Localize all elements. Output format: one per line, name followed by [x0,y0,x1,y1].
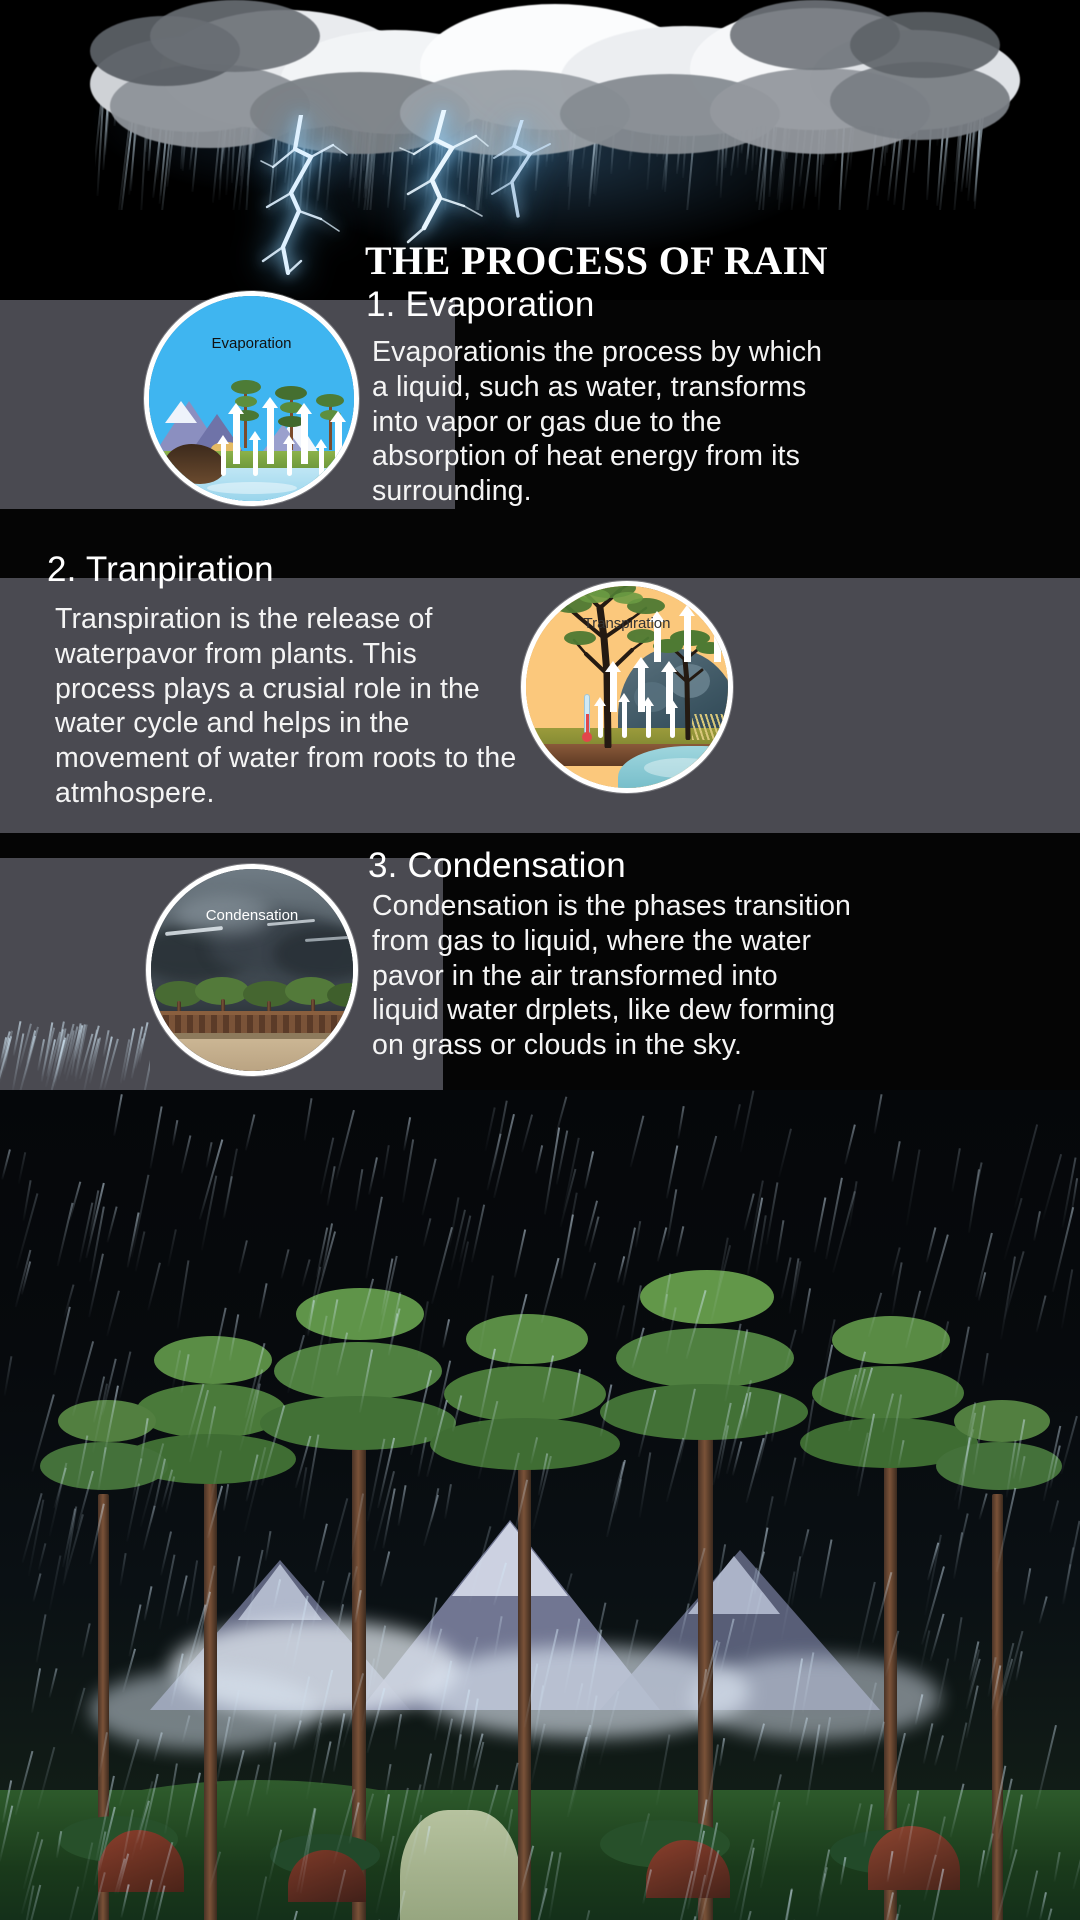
rain-drop [139,1418,148,1465]
rain-drop [280,1249,289,1278]
rain-drop [314,1524,328,1573]
rain-drop [383,1145,391,1179]
rain-drop [451,1734,463,1794]
rain-drop [1038,1596,1047,1624]
rain-drop [153,1733,163,1762]
vapor-wiggle-icon [670,706,675,738]
rain-drop [171,1120,178,1146]
evaporation-circle-label: Evaporation [149,335,354,352]
rain-drop [852,1804,861,1834]
rain-drop [571,1370,581,1417]
rain-drop [801,1652,814,1712]
rain-drop [839,1857,846,1885]
vapor-wiggle-icon [646,704,651,738]
rain-drop [171,1350,181,1392]
rain-drop [441,1319,449,1348]
rain-drop [903,1790,919,1873]
railing [151,1011,353,1015]
rain-drop [280,1911,298,1920]
rain-drop [1053,1852,1060,1882]
rain-drop [884,1733,906,1819]
rain-drop [542,1355,554,1402]
rain-drop [430,1628,443,1667]
rain-drop [514,1229,526,1277]
rain-drop [789,1658,803,1732]
rain-drop [368,1157,378,1195]
rain-drop [326,1166,335,1206]
step-3-heading: 3. Condensation [368,847,928,886]
rain-drop [502,1453,520,1522]
rain-drop [302,1259,311,1286]
rain-drop [996,1488,1017,1573]
rain-drop [1035,1295,1046,1332]
rain-drop [954,1326,970,1397]
rain-drop [939,1321,949,1360]
rain-drop [764,1496,773,1532]
rain-drop [954,1723,967,1773]
rain-drop [209,1308,226,1378]
rain-drop [575,1683,584,1713]
rain-drop [339,1573,350,1610]
rain-drop [313,1670,333,1750]
rain-drop [493,1616,502,1658]
step-3-body: Condensation is the phases transition fr… [372,889,852,1063]
rain-drop [404,1815,423,1885]
vapor-arrow-icon [233,412,240,464]
rain-drop [535,1145,543,1174]
rain-drop [82,1623,91,1657]
rain-drop [1,1149,11,1180]
rain-drop [224,1749,245,1827]
rain-drop [291,1596,308,1672]
rain-drop [512,1480,528,1542]
rain-drop [632,1327,645,1368]
rain-drop [31,1394,55,1472]
rain-drop [487,1133,502,1189]
rain-drop [675,1226,684,1257]
rain-drop [321,1741,332,1784]
rain-drop [177,1260,190,1329]
rain-drop [462,1637,479,1694]
rain-drop [167,1229,177,1266]
rain-drop [925,1227,936,1262]
rain-drop [937,1659,949,1709]
vapor-wiggle-icon [349,448,354,476]
rain-drop [223,1484,229,1511]
condensation-circle[interactable]: Condensation [146,864,358,1076]
rain-drop [421,1158,436,1215]
vapor-arrow-icon [335,420,342,466]
condensation-diagram-icon [151,869,353,1071]
rain-drop [740,1091,755,1153]
rain-drop [182,1715,191,1742]
rain-drop [382,1488,396,1548]
rain-drop [332,1870,346,1920]
rain-drop [897,1441,904,1467]
rain-drop [724,1323,741,1401]
rain-drop [299,1809,316,1894]
rain-drop [259,1284,268,1320]
rain-drop [4,1356,13,1396]
rain-drop [1035,1725,1057,1809]
rain-drop [712,1402,732,1484]
rain-drop [325,1498,348,1574]
rain-drop [519,1845,533,1893]
rain-drop [813,1197,826,1252]
rain-drop [238,1240,248,1273]
rain-drop [625,1620,638,1669]
rain-drop [106,1291,120,1337]
vapor-wiggle-icon [319,446,324,476]
rain-drop [1039,1892,1047,1920]
rain-drop [924,1855,938,1902]
transpiration-circle-label: Transpiration [526,615,728,632]
rain-drop [181,1354,190,1393]
rain-drop [563,1574,572,1601]
rain-drop [15,1751,34,1815]
step-2-heading: 2. Tranpiration [47,551,567,590]
rain-drop [304,1098,313,1141]
rain-drop [982,1353,989,1386]
rain-drop [867,1293,881,1338]
rain-drop [874,1094,883,1134]
rain-drop [856,1582,876,1660]
path-edge [151,1033,353,1039]
rain-drop [951,1149,961,1193]
step-1-body: Evaporationis the process by which a liq… [372,335,827,509]
rain-drop [738,1330,749,1376]
rain-drop [733,1105,741,1132]
rain-drop [403,1117,411,1151]
rain-drop [582,1910,590,1920]
rain-drop [201,1566,216,1627]
rain-drop [366,1688,385,1753]
rain-drop [934,1735,944,1765]
rain-drop [642,1870,652,1905]
rain-drop [371,1625,385,1685]
rain-drop [559,1168,576,1227]
rain-drop [208,1450,222,1510]
rain-drop [147,1262,161,1310]
rain-drop [965,1686,978,1740]
rain-drop [207,1485,223,1537]
rain-drop [306,1723,323,1800]
rain-drop [246,1765,260,1817]
rain-drop [48,1555,61,1611]
rain-drop [478,1275,494,1355]
rain-drop [1003,1198,1022,1260]
rain-drop [423,1218,432,1246]
rain-drop [18,1152,26,1184]
rain-drop [71,1688,86,1735]
rain-drop [592,1603,607,1663]
path-ground [151,1035,353,1071]
rain-drop [420,1754,432,1803]
rain-drop [120,1553,127,1586]
rain-drop [375,1836,394,1913]
rain-drop [0,1805,13,1861]
rain-streaks-icon [0,1090,1080,1920]
rain-drop [32,1573,41,1601]
rain-drop [599,1691,620,1765]
vapor-arrow-icon [301,412,308,464]
rain-drop [36,1615,47,1664]
rain-drop [796,1717,808,1761]
rain-drop [362,1794,374,1831]
rain-drop [118,1351,131,1398]
rain-drop [390,1788,410,1872]
rain-drop [53,1307,71,1376]
rain-drop [231,1556,240,1593]
rain-drop [97,1447,106,1491]
rain-drop [273,1579,281,1607]
rain-drop [336,1332,348,1375]
rain-streaks-icon [0,1020,150,1092]
rain-drop [90,1503,106,1564]
rain-drop [106,1206,117,1243]
rain-drop [720,1619,735,1674]
rain-drop [354,1590,362,1623]
rain-drop [228,1690,240,1739]
rain-drop [76,1436,89,1491]
rain-drop [120,1809,134,1870]
rain-drop [953,1617,962,1662]
rain-drop [716,1544,726,1590]
rain-drop [185,1773,201,1838]
rain-drop [361,1658,375,1731]
rain-drop [923,1723,934,1764]
rain-drop [304,1266,321,1335]
rain-drop [686,1548,705,1610]
step-1-heading: 1. Evaporation [366,286,986,325]
rain-drop [1023,1568,1031,1605]
rain-drop [905,1290,921,1348]
lightning-bolt-icon [255,115,365,275]
rain-drop [687,1830,705,1908]
rain-drop [711,1237,729,1320]
page-title: THE PROCESS OF RAIN [365,240,1025,282]
condensation-circle-label: Condensation [151,907,353,924]
rain-drop [311,1580,324,1627]
rain-drop [864,1805,874,1847]
rain-drop [719,1738,725,1766]
rain-drop [780,1257,791,1299]
rain-drop [778,1128,792,1177]
rain-drop [30,1668,40,1713]
rain-drop [770,1394,781,1442]
rain-drop [484,1108,495,1153]
rain-drop [350,1493,364,1559]
rain-drop [88,1253,104,1317]
evaporation-circle[interactable]: Evaporation [144,291,359,506]
rain-drop [789,1258,800,1314]
rain-drop [452,1395,463,1432]
vapor-wiggle-icon [253,438,258,476]
rain-drop [806,1725,821,1806]
rain-drop [417,1301,429,1359]
rain-drop [143,1586,152,1620]
rain-drop [882,1393,894,1432]
rain-drop [638,1390,656,1457]
rain-drop [562,1137,580,1213]
rain-drop [165,1477,175,1514]
tree-canopy [327,983,353,1007]
rain-drop [507,1294,528,1370]
rain-drop [1060,1269,1072,1328]
rain-drop [884,1893,894,1920]
rain-drop [335,1110,355,1181]
rain-drop [584,1151,594,1189]
rain-drop [843,1375,857,1423]
rain-drop [177,1576,188,1617]
rain-drop [424,1826,431,1855]
rain-drop [268,1830,282,1883]
rain-drop [677,1106,684,1139]
cloud-puff [850,12,1000,78]
rain-drop [892,1141,901,1182]
rain-drop [1042,1426,1061,1501]
rain-drop [139,1880,153,1920]
rain-drop [635,1221,641,1248]
rain-drop [638,1452,651,1517]
rain-drop [244,1115,255,1152]
mountain-snow [165,401,197,423]
rain-drop [206,1406,216,1448]
rain-drop [229,1314,239,1361]
rain-drop [444,1484,452,1519]
rain-drop [1014,1124,1038,1208]
rain-drop [431,1488,440,1522]
rain-drop [541,1257,560,1323]
rain-drop [350,1566,358,1592]
rain-drop [564,1619,581,1694]
rain-drop [284,1624,294,1658]
rain-drop [385,1764,392,1794]
rain-drop [953,1429,974,1501]
rain-drop [153,1842,174,1910]
rain-drop [801,1529,810,1558]
rain-drop [120,1884,129,1918]
rain-drop [358,1279,374,1333]
rain-drop [327,1300,338,1347]
rain-drop [392,1890,405,1920]
rain-drop [801,1289,811,1335]
rain-drop [98,1732,108,1777]
rain-drop [781,1571,796,1640]
rain-drop [56,1831,62,1858]
rain-drop [355,1170,364,1211]
rain-drop [366,1196,384,1278]
rain-drop [298,1677,310,1726]
rain-drop [882,1914,899,1920]
rain-drop [657,1227,668,1262]
rain-drop [784,1458,797,1507]
rain-drop [784,1329,797,1371]
evaporation-diagram-icon [149,296,354,501]
infographic-canvas: THE PROCESS OF RAIN 1. Evaporation Evapo… [0,0,1080,1920]
step-2-body: Transpiration is the release of waterpav… [55,602,525,811]
rain-drop [640,1814,650,1847]
rain-drop [292,1720,301,1749]
rain-drop [380,1552,391,1588]
rain-drop [1048,1500,1058,1533]
cloud-puff [150,0,320,72]
rain-drop [686,1290,707,1359]
rain-drop [398,1485,407,1525]
vapor-arrow-icon [610,670,617,712]
vapor-wiggle-icon [598,704,603,738]
rain-drop [975,1233,993,1298]
transpiration-circle[interactable]: Transpiration [521,581,733,793]
rain-drop [582,1696,597,1771]
rain-drop [359,1349,373,1412]
rain-drop [701,1136,717,1191]
rain-drop [844,1124,856,1164]
vapor-wiggle-icon [221,442,226,476]
rain-drop [48,1669,57,1699]
rain-drop [521,1114,533,1152]
rain-drop [81,1842,94,1892]
rain-drop [753,1723,765,1761]
rain-drop [615,1305,625,1339]
rain-drop [180,1135,191,1173]
rain-drop [530,1438,538,1465]
rain-drop [265,1531,272,1561]
rain-drop [821,1717,831,1765]
rain-drop [819,1539,832,1598]
rain-drop [801,1399,814,1466]
rain-drop [410,1370,432,1455]
rain-drop [915,1694,924,1724]
rain-drop [37,1747,56,1810]
rain-drop [1061,1520,1080,1604]
rain-drop [310,1315,327,1391]
rain-drop [978,1493,987,1520]
rain-drop [776,1220,785,1263]
rain-drop [742,1567,758,1632]
rain-drop [209,1852,221,1889]
rain-drop [630,1115,645,1167]
rain-drop [164,1763,178,1833]
rain-drop [660,1273,671,1320]
rain-drop [69,1182,82,1221]
rain-drop [1072,1828,1080,1889]
rain-drop [468,1526,491,1603]
rain-drop [380,1794,390,1842]
water-highlight [207,482,297,494]
rain-drop [215,1717,230,1785]
rain-drop [871,1722,885,1773]
rain-drop [760,1811,774,1878]
rain-drop [1060,1416,1078,1475]
rain-drop [665,1307,676,1354]
rain-drop [584,1263,596,1301]
rain-drop [1033,1211,1041,1241]
rain-drop [929,1614,944,1662]
rain-drop [114,1094,124,1135]
rain-drop [287,1335,305,1393]
rain-drop [71,1341,93,1416]
rain-drop [1018,1456,1025,1482]
rain-drop [531,1724,546,1785]
rain-drop [205,1142,212,1168]
rain-drop [957,1513,968,1555]
rain-drop [887,1851,894,1882]
rain-drop [483,1784,498,1830]
rain-drop [667,1189,678,1240]
rain-drop [884,1631,899,1677]
rain-drop [245,1550,264,1632]
